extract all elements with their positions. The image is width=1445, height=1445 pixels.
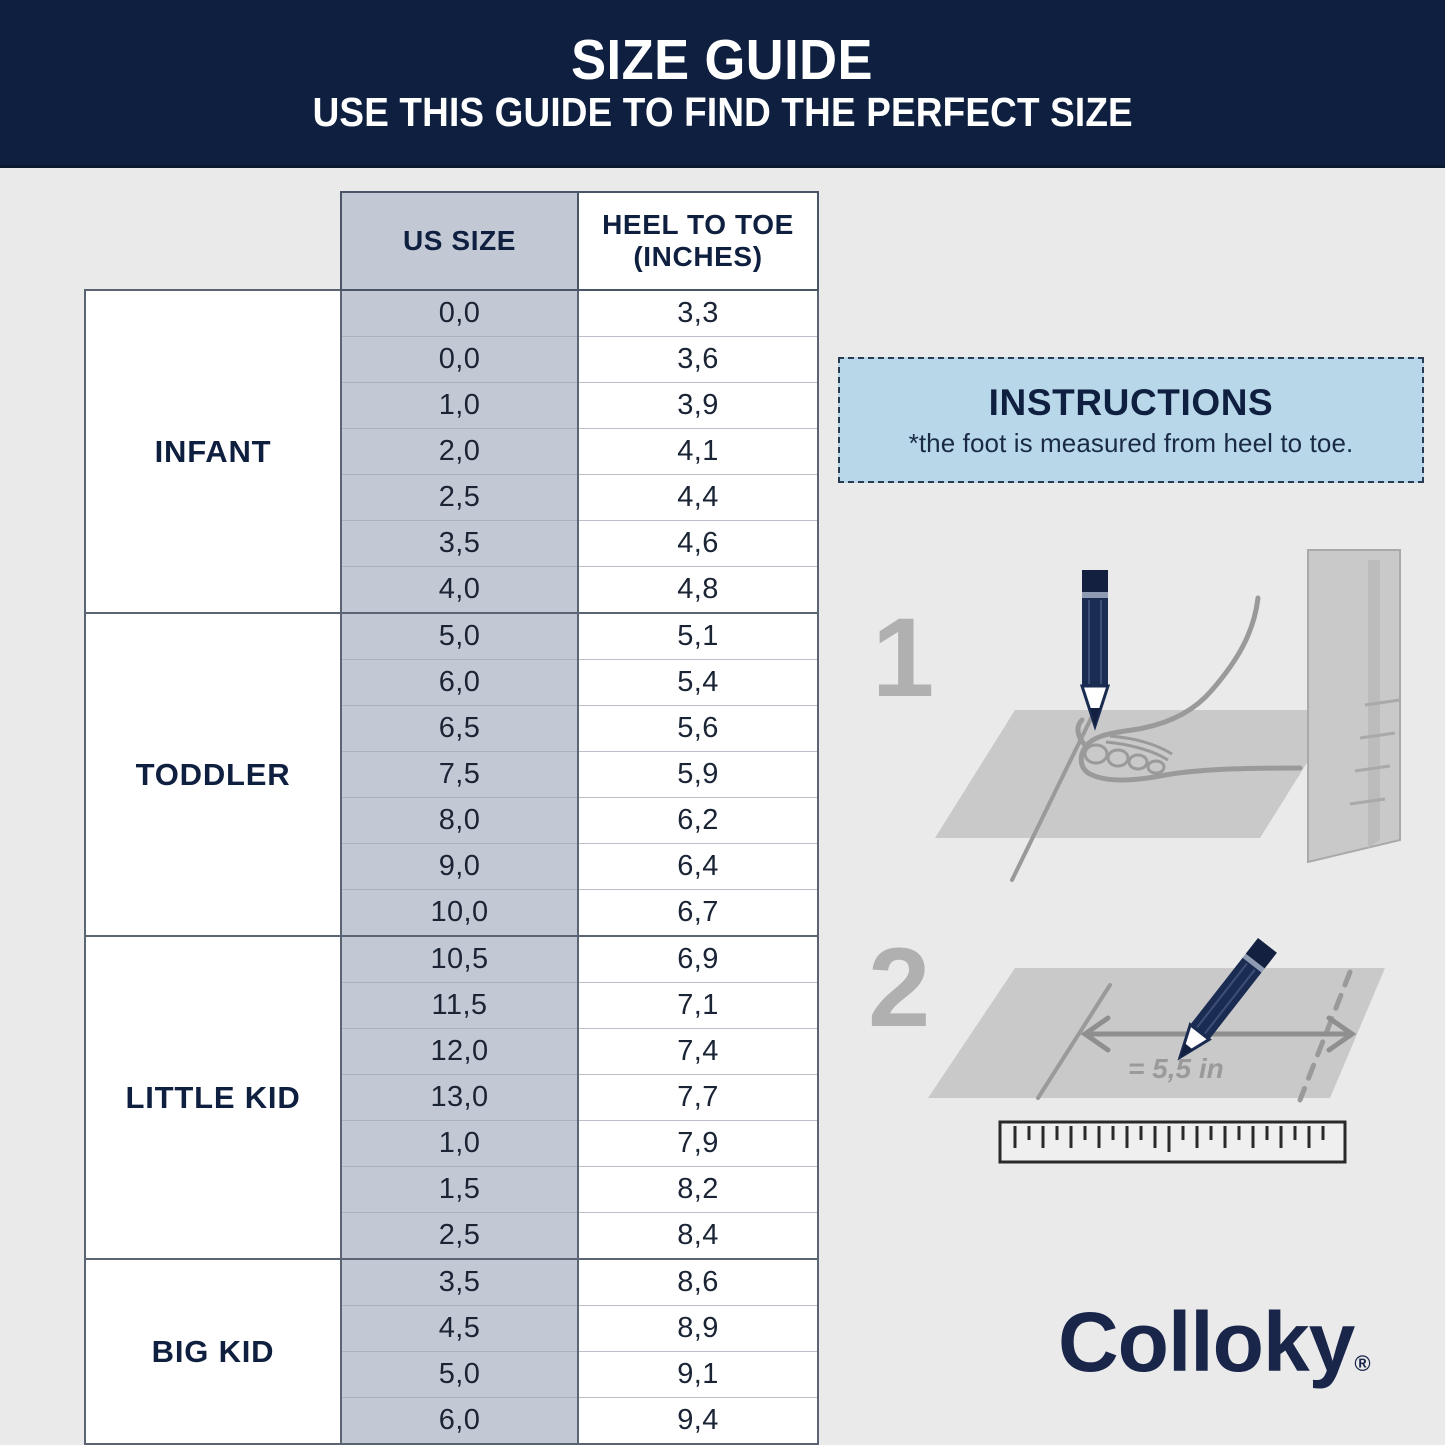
heel-to-toe-cell: 3,3	[578, 290, 818, 337]
heel-to-toe-cell: 5,6	[578, 706, 818, 752]
heel-to-toe-cell: 4,6	[578, 521, 818, 567]
category-cell: BIG KID	[85, 1259, 341, 1444]
us-size-cell: 5,0	[341, 613, 578, 660]
heel-to-toe-cell: 5,9	[578, 752, 818, 798]
size-table: US SIZE HEEL TO TOE (INCHES) INFANT0,03,…	[84, 191, 819, 1445]
header-cell-category	[85, 192, 341, 290]
table-row: TODDLER5,05,1	[85, 613, 818, 660]
category-cell: LITTLE KID	[85, 936, 341, 1259]
us-size-cell: 0,0	[341, 290, 578, 337]
step-2-graphic: = 5,5 in	[860, 930, 1420, 1180]
us-size-cell: 2,5	[341, 475, 578, 521]
heel-to-toe-cell: 7,1	[578, 983, 818, 1029]
step-2-illustration: 2 = 5,5 in	[860, 930, 1420, 1180]
us-size-cell: 2,5	[341, 1213, 578, 1260]
page-subtitle: USE THIS GUIDE TO FIND THE PERFECT SIZE	[312, 91, 1132, 134]
step-2-number: 2	[868, 932, 930, 1044]
size-table-container: US SIZE HEEL TO TOE (INCHES) INFANT0,03,…	[84, 191, 817, 1445]
step-1-number: 1	[872, 602, 934, 714]
heel-to-toe-cell: 6,7	[578, 890, 818, 937]
us-size-cell: 10,5	[341, 936, 578, 983]
us-size-cell: 6,0	[341, 660, 578, 706]
instructions-title: INSTRUCTIONS	[989, 382, 1274, 424]
us-size-cell: 10,0	[341, 890, 578, 937]
step-1-graphic	[860, 540, 1420, 890]
us-size-cell: 3,5	[341, 521, 578, 567]
heel-to-toe-cell: 9,1	[578, 1352, 818, 1398]
table-header: US SIZE HEEL TO TOE (INCHES)	[85, 192, 818, 290]
wall-board-icon	[1308, 550, 1400, 862]
heel-to-toe-cell: 8,9	[578, 1306, 818, 1352]
heel-to-toe-cell: 6,2	[578, 798, 818, 844]
us-size-cell: 9,0	[341, 844, 578, 890]
page-title: SIZE GUIDE	[572, 31, 874, 89]
us-size-cell: 5,0	[341, 1352, 578, 1398]
heel-to-toe-cell: 4,8	[578, 567, 818, 614]
instructions-box: INSTRUCTIONS *the foot is measured from …	[838, 357, 1424, 483]
registered-mark: ®	[1354, 1351, 1370, 1376]
pencil-icon	[1082, 570, 1108, 726]
heel-to-toe-cell: 3,9	[578, 383, 818, 429]
heel-to-toe-cell: 9,4	[578, 1398, 818, 1445]
heel-to-toe-line2: (INCHES)	[633, 241, 762, 272]
table-row: BIG KID3,58,6	[85, 1259, 818, 1306]
measure-label: = 5,5 in	[1128, 1053, 1224, 1084]
us-size-cell: 4,0	[341, 567, 578, 614]
step-1-illustration: 1	[860, 540, 1420, 890]
heel-to-toe-cell: 4,4	[578, 475, 818, 521]
heel-to-toe-cell: 7,7	[578, 1075, 818, 1121]
table-header-row: US SIZE HEEL TO TOE (INCHES)	[85, 192, 818, 290]
us-size-cell: 6,5	[341, 706, 578, 752]
brand-name: Colloky	[1058, 1295, 1354, 1389]
ruler-icon	[1000, 1122, 1345, 1162]
us-size-cell: 1,0	[341, 383, 578, 429]
heel-to-toe-cell: 5,1	[578, 613, 818, 660]
us-size-cell: 7,5	[341, 752, 578, 798]
heel-to-toe-cell: 3,6	[578, 337, 818, 383]
heel-to-toe-cell: 4,1	[578, 429, 818, 475]
heel-to-toe-cell: 6,4	[578, 844, 818, 890]
us-size-cell: 4,5	[341, 1306, 578, 1352]
category-cell: TODDLER	[85, 613, 341, 936]
heel-to-toe-cell: 5,4	[578, 660, 818, 706]
us-size-cell: 12,0	[341, 1029, 578, 1075]
us-size-cell: 8,0	[341, 798, 578, 844]
header-cell-heel-to-toe: HEEL TO TOE (INCHES)	[578, 192, 818, 290]
us-size-cell: 1,5	[341, 1167, 578, 1213]
heel-to-toe-cell: 8,4	[578, 1213, 818, 1260]
us-size-cell: 1,0	[341, 1121, 578, 1167]
table-body: INFANT0,03,30,03,61,03,92,04,12,54,43,54…	[85, 290, 818, 1444]
us-size-cell: 13,0	[341, 1075, 578, 1121]
instructions-note: *the foot is measured from heel to toe.	[909, 428, 1354, 459]
category-cell: INFANT	[85, 290, 341, 613]
heel-to-toe-line1: HEEL TO TOE	[602, 209, 794, 240]
brand-logo: Colloky®	[1058, 1300, 1371, 1384]
us-size-cell: 11,5	[341, 983, 578, 1029]
heel-to-toe-cell: 7,9	[578, 1121, 818, 1167]
table-row: INFANT0,03,3	[85, 290, 818, 337]
heel-to-toe-cell: 8,2	[578, 1167, 818, 1213]
heel-to-toe-cell: 7,4	[578, 1029, 818, 1075]
us-size-cell: 0,0	[341, 337, 578, 383]
header-cell-us-size: US SIZE	[341, 192, 578, 290]
heel-to-toe-cell: 8,6	[578, 1259, 818, 1306]
page-header: SIZE GUIDE USE THIS GUIDE TO FIND THE PE…	[0, 0, 1445, 168]
us-size-cell: 2,0	[341, 429, 578, 475]
table-row: LITTLE KID10,56,9	[85, 936, 818, 983]
us-size-cell: 6,0	[341, 1398, 578, 1445]
us-size-cell: 3,5	[341, 1259, 578, 1306]
heel-to-toe-cell: 6,9	[578, 936, 818, 983]
